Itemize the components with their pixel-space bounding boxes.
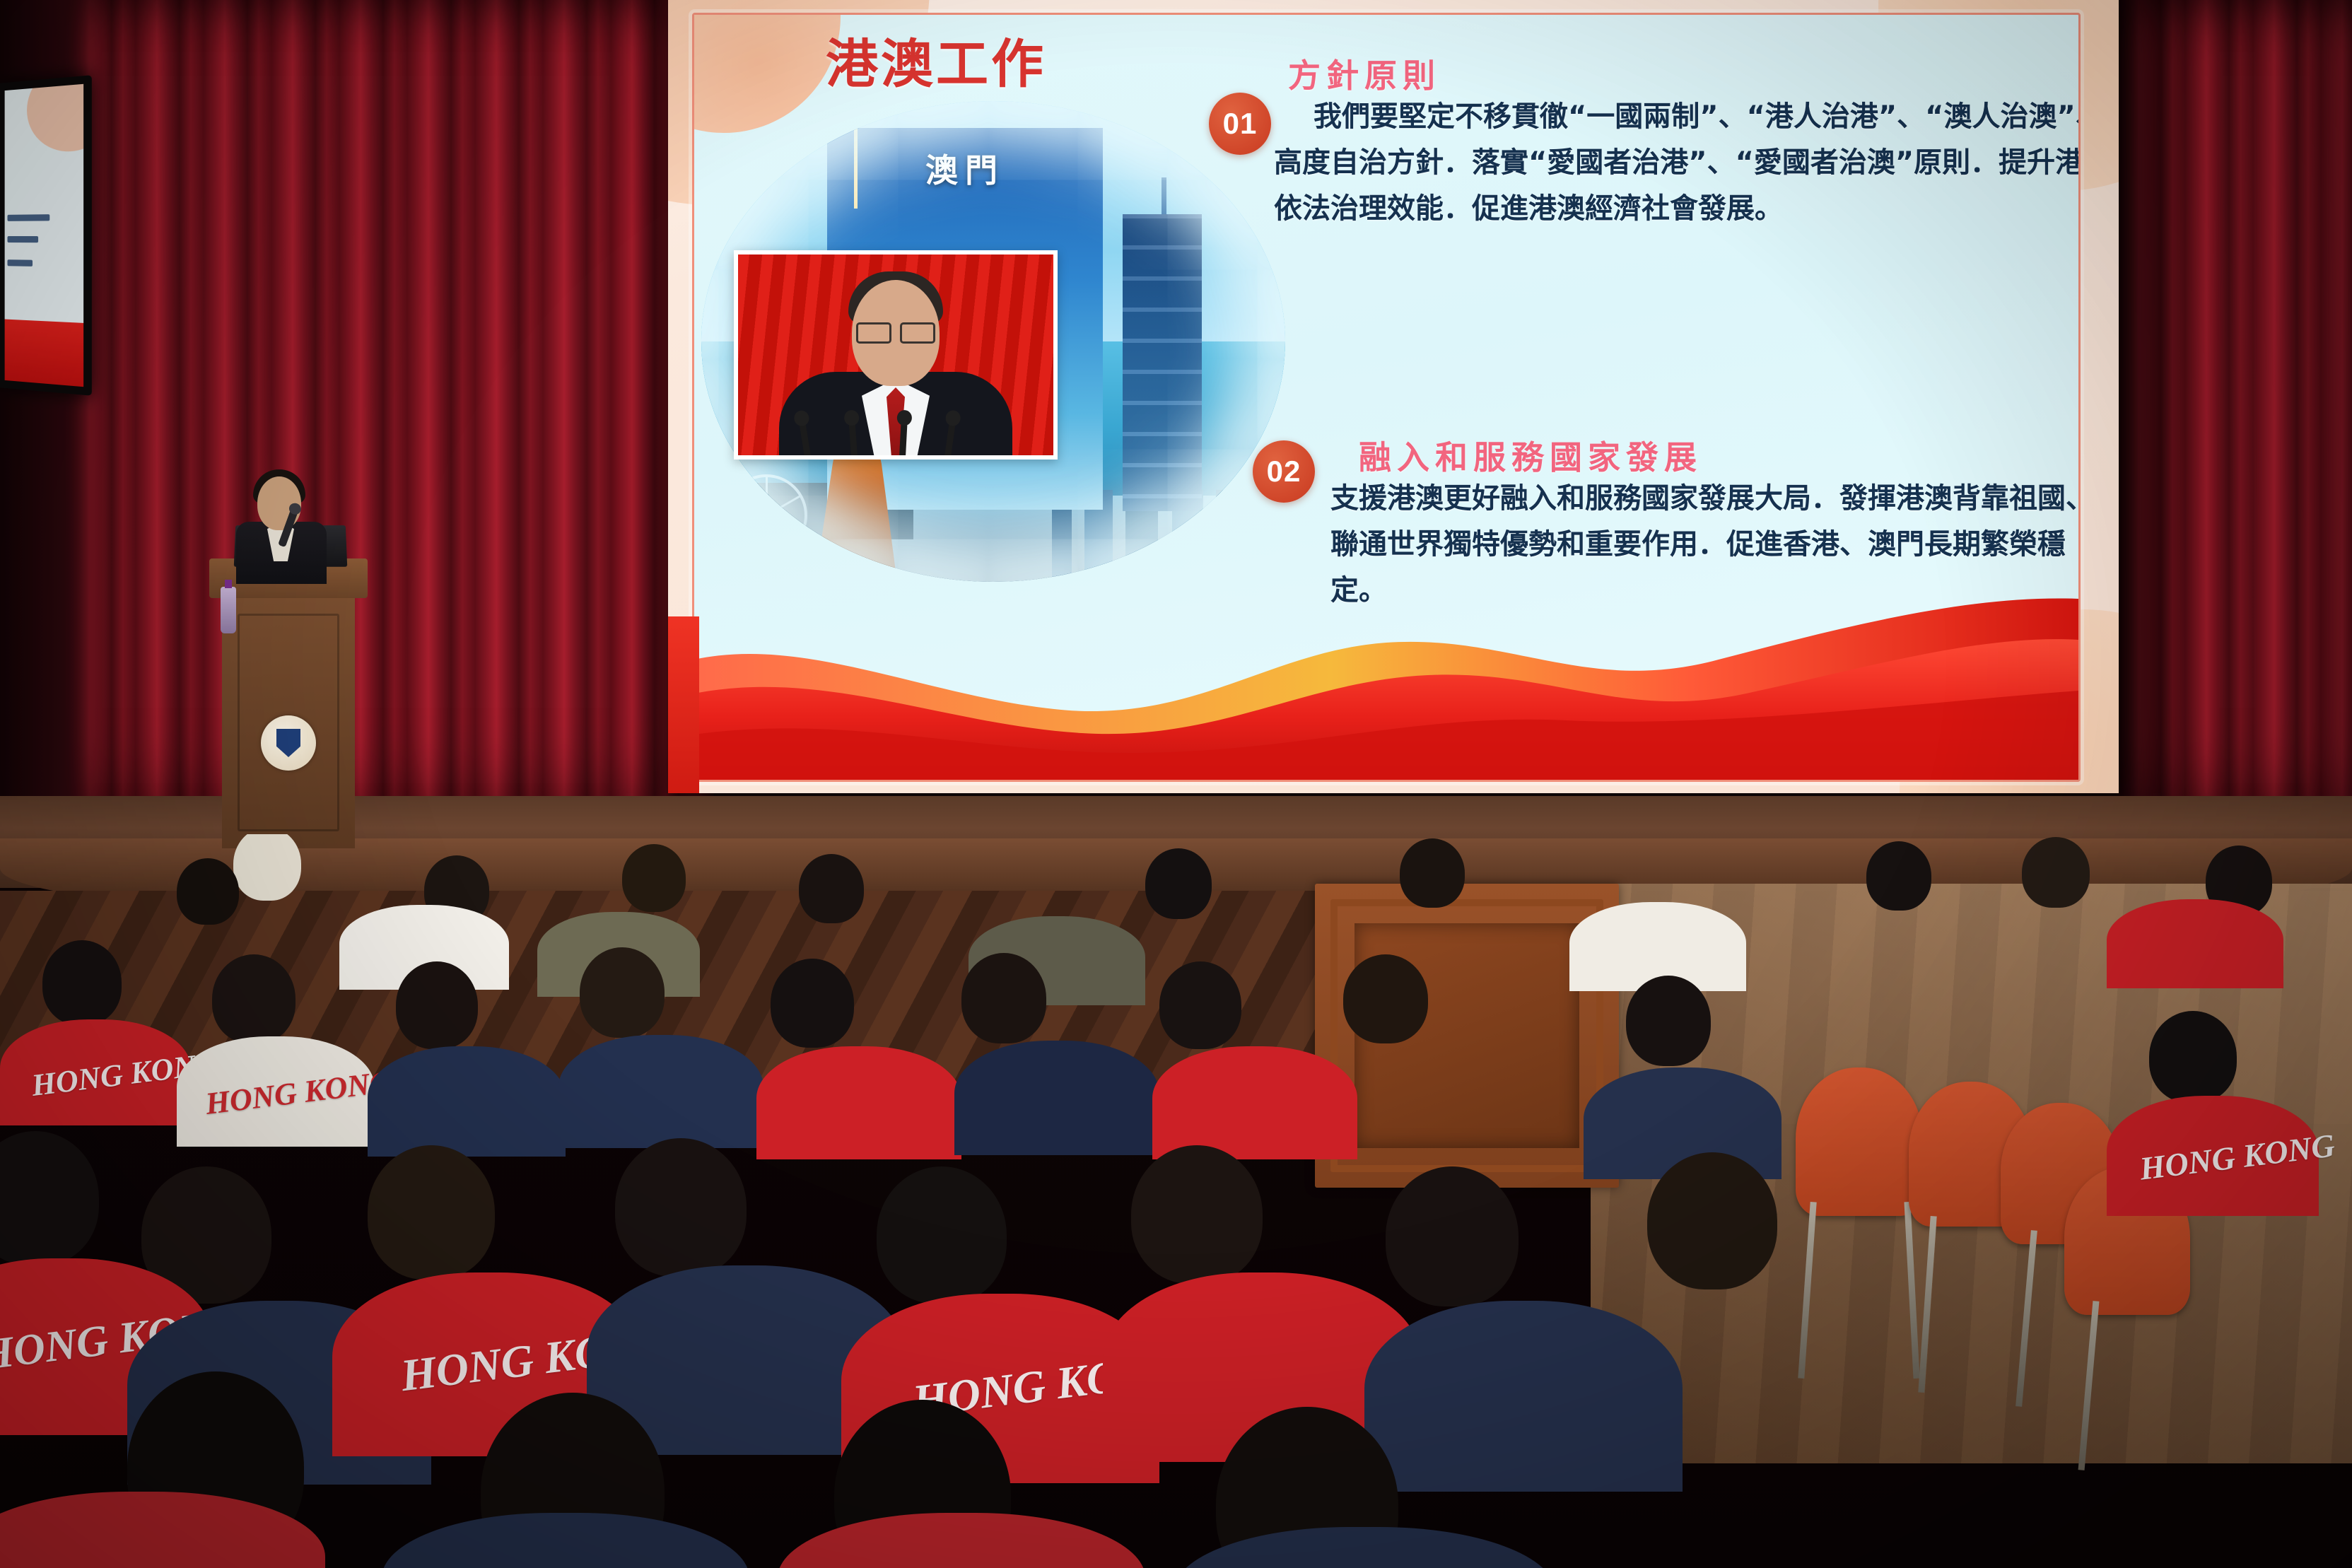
audience-shoulders: HONG KONG — [177, 1036, 375, 1147]
audience-shoulders: HONG KONG — [2107, 1096, 2319, 1216]
audience-head — [1400, 838, 1465, 908]
audience-head — [212, 954, 296, 1043]
podium — [218, 558, 359, 848]
section-badge-01: 01 — [1209, 93, 1271, 155]
microphone-icon — [899, 420, 908, 457]
projection-screen: 港澳工作 澳門 — [668, 0, 2119, 793]
audience-head — [0, 1131, 99, 1265]
audience-shoulders — [954, 1041, 1159, 1155]
slide-content-panel: 港澳工作 澳門 — [692, 13, 2081, 782]
section-heading-01: 方針原則 — [1288, 50, 1441, 97]
water-bottle — [221, 587, 236, 633]
audience-head — [1159, 961, 1241, 1049]
audience-shoulders — [558, 1035, 763, 1148]
slide-title: 港澳工作 — [826, 22, 1046, 98]
audience-shoulders — [778, 1513, 1145, 1568]
audience-head — [1131, 1145, 1263, 1284]
section-badge-02: 02 — [1253, 440, 1315, 503]
audience-shoulders — [756, 1046, 961, 1159]
stage-curtain-right — [2117, 0, 2352, 859]
audience-head — [1386, 1166, 1519, 1306]
chair-leg — [1798, 1202, 1816, 1379]
audience-head — [396, 961, 478, 1049]
microphone-row — [738, 416, 1053, 457]
audience-chair[interactable] — [1796, 1067, 1923, 1216]
audience-head — [961, 953, 1046, 1043]
audience-shoulders — [2107, 899, 2283, 988]
section-body-01: 我們要堅定不移貫徹“一國兩制”、“港人治港”、“澳人治澳”、高度自治方針．落實“… — [1274, 94, 2081, 231]
red-silk-wave — [694, 575, 2078, 780]
stage-speaker-person — [233, 467, 339, 580]
audience-head — [771, 959, 854, 1048]
audience-head — [799, 854, 864, 923]
audience-head — [368, 1145, 495, 1280]
audience-head — [233, 834, 301, 901]
chair-leg — [2015, 1230, 2037, 1407]
audience-shoulders — [368, 1046, 566, 1157]
chair-leg — [1904, 1202, 1919, 1379]
audience-head — [615, 1138, 747, 1277]
audience-head — [2022, 837, 2090, 908]
confidence-monitor — [0, 75, 92, 396]
school-crest-emblem — [261, 715, 316, 771]
audience-shoulders — [1152, 1046, 1357, 1159]
panel-corner-notch — [692, 13, 813, 83]
section-heading-02: 融入和服務國家發展 — [1359, 432, 1702, 479]
microphone-icon — [848, 420, 858, 457]
slide-left-red-edge — [668, 616, 699, 793]
audience-head — [877, 1166, 1007, 1304]
audience-head — [622, 844, 686, 912]
crest-shield-icon — [276, 729, 300, 757]
audience-head — [1343, 954, 1428, 1043]
podium-body — [222, 598, 355, 848]
official-speech-photo — [734, 250, 1058, 460]
chair-leg — [1918, 1216, 1936, 1393]
microphone-icon — [799, 420, 811, 457]
audience-head — [1647, 1152, 1777, 1289]
audience-head — [1866, 841, 1931, 911]
audience-head — [2149, 1011, 2237, 1103]
microphone-icon — [944, 420, 956, 457]
presentation-slide: 港澳工作 澳門 — [668, 0, 2119, 793]
uniform-text: HONG KONG — [2138, 1126, 2337, 1187]
chair-leg — [2078, 1301, 2100, 1470]
student-audience: HONG KONG HONG KONG HONG KONG HONG KONG … — [0, 834, 2352, 1568]
assembly-hall-photo: 港澳工作 澳門 — [0, 0, 2352, 1568]
audience-head — [177, 858, 239, 925]
audience-shoulders — [382, 1513, 749, 1568]
audience-head — [1145, 848, 1212, 919]
audience-shoulders — [1364, 1301, 1683, 1492]
monitor-wave — [5, 320, 84, 387]
audience-head — [1626, 976, 1711, 1066]
audience-head — [42, 940, 122, 1025]
audience-head — [580, 947, 665, 1038]
audience-shoulders: HONG KONG — [0, 1019, 191, 1125]
monitor-peach-arc — [27, 84, 83, 153]
eyeglasses-icon — [856, 322, 935, 339]
uniform-text: HONG KONG — [204, 1063, 394, 1122]
confidence-monitor-screen — [5, 84, 84, 387]
